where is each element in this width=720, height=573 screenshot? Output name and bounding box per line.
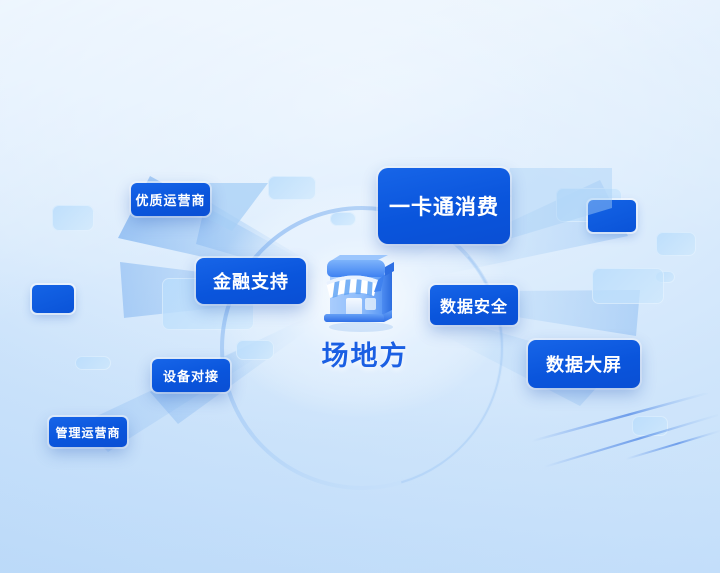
decor-solid-block-right [588,200,636,232]
card-yikatong-xiaofei[interactable]: 一卡通消费 [378,168,510,244]
speed-lines [530,393,720,513]
center-title: 场地方 [300,334,430,373]
card-label: 管理运营商 [55,424,120,441]
decor-rect [592,268,664,304]
card-label: 数据安全 [440,293,508,317]
card-label: 金融支持 [213,268,289,294]
card-shuju-anquan[interactable]: 数据安全 [430,285,518,325]
decor-rect [236,340,274,360]
decor-rect [75,356,111,370]
decor-rect [632,416,668,436]
card-guanli-yunyingshang[interactable]: 管理运营商 [49,417,127,447]
decor-rect [52,205,94,231]
infographic-canvas: 一卡通消费 金融支持 数据大屏 数据安全 优质运营商 设备对接 管理运营商 [0,0,720,573]
card-label: 设备对接 [163,366,219,385]
decor-solid-block-left [32,285,74,313]
card-label: 数据大屏 [546,351,622,377]
card-shuju-daping[interactable]: 数据大屏 [528,340,640,388]
shop-storefront-icon [318,248,404,332]
decor-rect [330,212,356,226]
card-label: 优质运营商 [135,190,205,209]
card-jinrong-zhichi[interactable]: 金融支持 [196,258,306,304]
card-label: 一卡通消费 [389,191,499,221]
decor-rect [656,232,696,256]
card-shebei-duijie[interactable]: 设备对接 [152,359,230,392]
decor-rect [268,176,316,200]
card-youzhi-yunyingshang[interactable]: 优质运营商 [131,183,210,216]
